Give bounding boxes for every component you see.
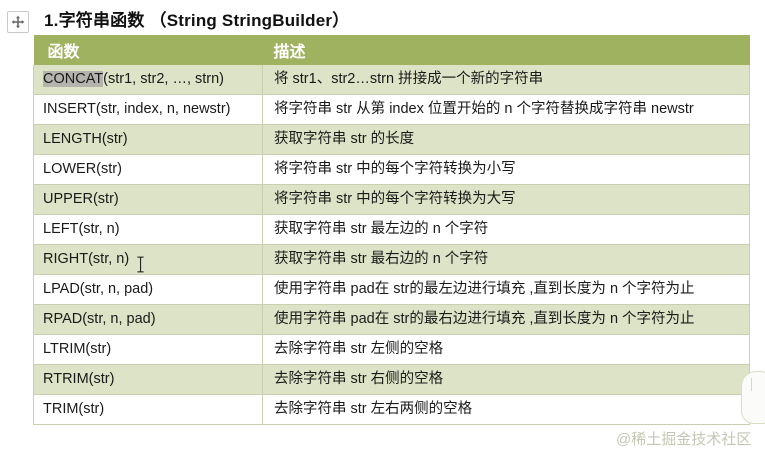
description-cell: 获取字符串 str 的长度 xyxy=(263,125,750,155)
string-function-table: 函数 描述 CONCAT(str1, str2, …, strn)将 str1、… xyxy=(33,35,750,425)
description-cell: 去除字符串 str 右侧的空格 xyxy=(263,365,750,395)
function-cell: UPPER(str) xyxy=(34,185,263,215)
function-cell: LOWER(str) xyxy=(34,155,263,185)
function-cell: LPAD(str, n, pad) xyxy=(34,275,263,305)
description-cell: 将字符串 str 中的每个字符转换为小写 xyxy=(263,155,750,185)
function-cell: LENGTH(str) xyxy=(34,125,263,155)
function-cell: RPAD(str, n, pad) xyxy=(34,305,263,335)
table-header-row: 函数 描述 xyxy=(34,35,750,65)
table-body: CONCAT(str1, str2, …, strn)将 str1、str2…s… xyxy=(34,65,750,425)
table-row: RTRIM(str)去除字符串 str 右侧的空格 xyxy=(34,365,750,395)
function-signature: LENGTH(str) xyxy=(43,131,128,147)
description-cell: 使用字符串 pad在 str的最右边进行填充 ,直到长度为 n 个字符为止 xyxy=(263,305,750,335)
function-signature: RTRIM(str) xyxy=(43,371,114,387)
selected-text: CONCAT xyxy=(43,71,103,87)
table-row: LENGTH(str)获取字符串 str 的长度 xyxy=(34,125,750,155)
table-row: LOWER(str)将字符串 str 中的每个字符转换为小写 xyxy=(34,155,750,185)
table-row: UPPER(str)将字符串 str 中的每个字符转换为大写 xyxy=(34,185,750,215)
table-row: LEFT(str, n)获取字符串 str 最左边的 n 个字符 xyxy=(34,215,750,245)
description-cell: 获取字符串 str 最右边的 n 个字符 xyxy=(263,245,750,275)
description-cell: 将字符串 str 中的每个字符转换为大写 xyxy=(263,185,750,215)
function-cell: TRIM(str) xyxy=(34,395,263,425)
table-row: CONCAT(str1, str2, …, strn)将 str1、str2…s… xyxy=(34,65,750,95)
move-arrows-icon xyxy=(11,15,25,29)
function-signature: LPAD(str, n, pad) xyxy=(43,281,153,297)
function-cell: CONCAT(str1, str2, …, strn) xyxy=(34,65,263,95)
table-row: INSERT(str, index, n, newstr)将字符串 str 从第… xyxy=(34,95,750,125)
description-cell: 将字符串 str 从第 index 位置开始的 n 个字符替换成字符串 news… xyxy=(263,95,750,125)
table-row: RIGHT(str, n)获取字符串 str 最右边的 n 个字符 xyxy=(34,245,750,275)
watermark: @稀土掘金技术社区 xyxy=(616,428,751,449)
page-title: 1.字符串函数 （String StringBuilder） xyxy=(44,6,349,31)
description-cell: 使用字符串 pad在 str的最左边进行填充 ,直到长度为 n 个字符为止 xyxy=(263,275,750,305)
edge-popup-shape xyxy=(741,371,765,424)
description-cell: 去除字符串 str 左侧的空格 xyxy=(263,335,750,365)
table-row: TRIM(str)去除字符串 str 左右两侧的空格 xyxy=(34,395,750,425)
function-signature: LTRIM(str) xyxy=(43,341,111,357)
function-signature: (str1, str2, …, strn) xyxy=(103,71,224,87)
column-header-function: 函数 xyxy=(34,35,263,65)
function-cell: LEFT(str, n) xyxy=(34,215,263,245)
function-signature: UPPER(str) xyxy=(43,191,119,207)
table-row: RPAD(str, n, pad)使用字符串 pad在 str的最右边进行填充 … xyxy=(34,305,750,335)
function-cell: INSERT(str, index, n, newstr) xyxy=(34,95,263,125)
function-cell: LTRIM(str) xyxy=(34,335,263,365)
function-signature: LOWER(str) xyxy=(43,161,122,177)
function-cell: RIGHT(str, n) xyxy=(34,245,263,275)
function-signature: RIGHT(str, n) xyxy=(43,251,129,267)
description-cell: 获取字符串 str 最左边的 n 个字符 xyxy=(263,215,750,245)
function-signature: TRIM(str) xyxy=(43,401,104,417)
function-signature: RPAD(str, n, pad) xyxy=(43,311,156,327)
column-header-description: 描述 xyxy=(263,35,750,65)
description-cell: 去除字符串 str 左右两侧的空格 xyxy=(263,395,750,425)
table-row: LPAD(str, n, pad)使用字符串 pad在 str的最左边进行填充 … xyxy=(34,275,750,305)
move-handle-button[interactable] xyxy=(7,11,29,33)
table-header: 函数 描述 xyxy=(34,35,750,65)
function-signature: LEFT(str, n) xyxy=(43,221,120,237)
function-cell: RTRIM(str) xyxy=(34,365,263,395)
table-row: LTRIM(str)去除字符串 str 左侧的空格 xyxy=(34,335,750,365)
function-signature: INSERT(str, index, n, newstr) xyxy=(43,101,230,117)
description-cell: 将 str1、str2…strn 拼接成一个新的字符串 xyxy=(263,65,750,95)
